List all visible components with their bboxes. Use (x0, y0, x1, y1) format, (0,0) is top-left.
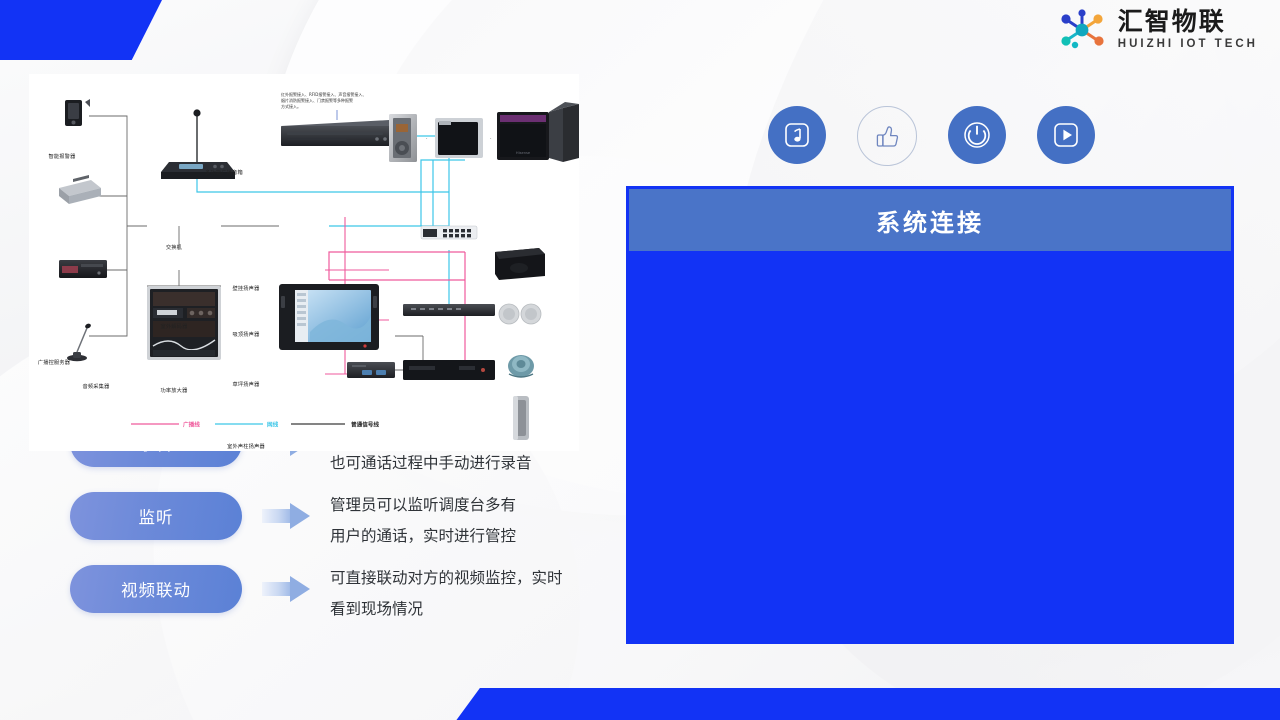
feature-description: 管理员可以监听调度台多有用户的通话，实时进行管控 (330, 490, 630, 552)
arrow-icon (242, 565, 330, 613)
svg-text:红外报警接入、RFID报警接入、声音报警接入、: 红外报警接入、RFID报警接入、声音报警接入、 (281, 91, 366, 97)
device-outdoor-decoder (403, 304, 495, 316)
diagram-canvas: MP3播放器 光盘播放器 卡带播放器 (29, 74, 579, 451)
logo-name-en: HUIZHI IOT TECH (1118, 39, 1258, 51)
svg-text:烟片消防报警接入、门禁报警等多种报警: 烟片消防报警接入、门禁报警等多种报警 (281, 97, 353, 103)
device-multifunction-speakers: · · Hisense · (389, 102, 579, 162)
molecule-logo-icon (1055, 8, 1109, 52)
panel-title: 系统连接 (876, 203, 984, 238)
panel-header: 系统连接 (629, 189, 1231, 251)
svg-text:·: · (426, 136, 428, 142)
feature-row: 监听 管理员可以监听调度台多有用户的通话，实时进行管控 (70, 490, 630, 563)
device-wall-speaker (495, 248, 545, 280)
svg-text:广播线: 广播线 (183, 420, 200, 428)
svg-text:广播控服务器: 广播控服务器 (38, 358, 71, 366)
device-microphone (67, 323, 92, 361)
svg-text:方式接入。: 方式接入。 (281, 103, 301, 109)
svg-text:智能报警器: 智能报警器 (49, 152, 77, 160)
device-smart-alarm (281, 120, 395, 146)
svg-text:吸顶扬声器: 吸顶扬声器 (233, 330, 261, 338)
device-switch (421, 226, 477, 239)
logo-name-cn: 汇智物联 (1118, 9, 1258, 34)
feature-row: 视频联动 可直接联动对方的视频监控，实时看到现场情况 (70, 563, 630, 636)
feature-pill[interactable]: 监听 (70, 492, 242, 540)
device-ip-paging-mic (161, 109, 235, 179)
device-mixer-console (147, 286, 221, 360)
svg-text:室外解码器: 室外解码器 (161, 322, 189, 330)
bottom-right-accent-shape (455, 688, 1280, 720)
device-outdoor-column-speaker (513, 396, 529, 440)
feature-description: 可直接联动对方的视频监控，实时看到现场情况 (330, 563, 630, 625)
music-note-icon[interactable] (768, 106, 826, 164)
slide-root: 汇智物联 HUIZHI IOT TECH 综合安防-IP广播对讲系统 IP br… (0, 0, 1280, 720)
arrow-icon (242, 492, 330, 540)
svg-text:·: · (490, 136, 492, 142)
device-ceiling-speaker (499, 304, 541, 324)
thumbs-up-icon[interactable] (857, 106, 917, 166)
svg-text:Hisense: Hisense (516, 151, 531, 155)
diagram-legend: 广播线 网线 普通信号线 (131, 420, 379, 428)
device-mp3-player (65, 99, 90, 126)
top-left-accent-shape (0, 0, 162, 60)
device-audio-collector (347, 362, 395, 378)
device-broadcast-server (279, 284, 379, 350)
device-cassette-player (59, 260, 107, 278)
feature-pill[interactable]: 视频联动 (70, 565, 242, 613)
svg-text:普通信号线: 普通信号线 (351, 420, 379, 428)
svg-text:壁挂扬声器: 壁挂扬声器 (233, 284, 261, 292)
brand-logo: 汇智物联 HUIZHI IOT TECH (1055, 8, 1258, 52)
play-icon[interactable] (1037, 106, 1095, 164)
system-topology-diagram: MP3播放器 光盘播放器 卡带播放器 (29, 74, 579, 451)
icon-row (768, 106, 1095, 166)
svg-text:草坪扬声器: 草坪扬声器 (233, 380, 261, 388)
device-lawn-speaker (508, 355, 534, 377)
svg-text:室外声柱扬声器: 室外声柱扬声器 (227, 442, 265, 450)
device-cd-player (59, 175, 101, 204)
device-power-amplifier (403, 360, 495, 380)
svg-text:功率放大器: 功率放大器 (161, 386, 189, 394)
svg-text:音频采集器: 音频采集器 (83, 382, 111, 390)
svg-text:交换机: 交换机 (166, 243, 183, 251)
power-icon[interactable] (948, 106, 1006, 164)
svg-text:多功能广播音箱: 多功能广播音箱 (205, 168, 243, 176)
system-connection-panel: 系统连接 (626, 186, 1234, 644)
svg-text:网线: 网线 (267, 420, 279, 428)
